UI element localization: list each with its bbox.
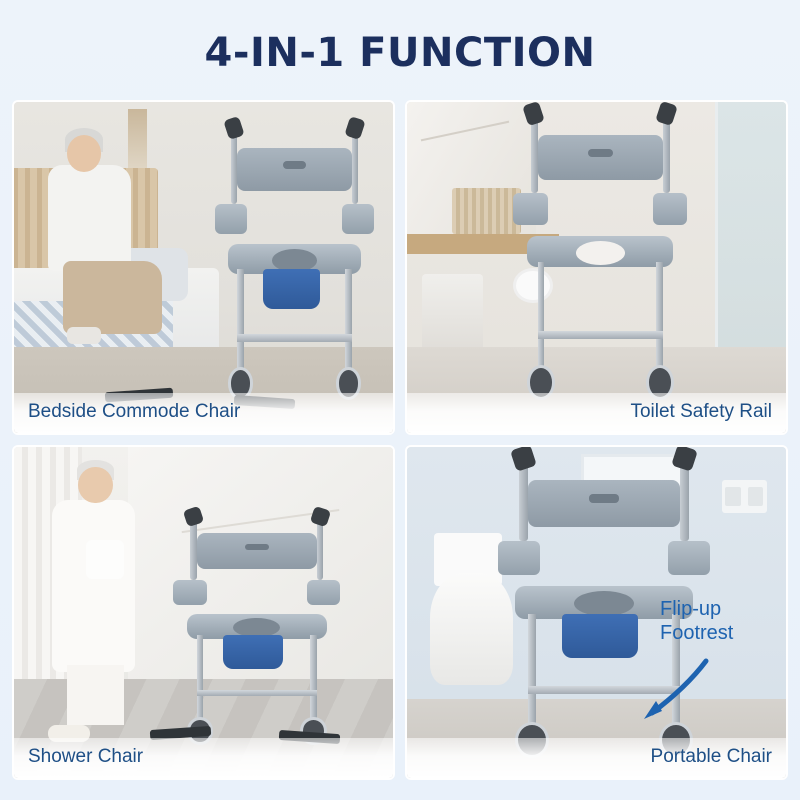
chair-push-post-right — [352, 128, 358, 203]
chair-push-post-right — [663, 114, 670, 193]
scene-bedroom — [14, 102, 393, 433]
panel-toilet-safety-rail[interactable]: Toilet Safety Rail — [405, 100, 788, 435]
backrest-handle-slot — [589, 494, 620, 503]
scene-bathroom-toilet — [407, 102, 786, 433]
rolled-towel — [86, 540, 124, 580]
person-head — [67, 135, 101, 171]
chair-backrest — [528, 480, 681, 527]
feature-grid: Bedside Commode Chair — [12, 100, 788, 780]
wall-outlet — [722, 480, 767, 513]
chair-frame-left — [197, 635, 204, 720]
panel-bedside-commode-chair[interactable]: Bedside Commode Chair — [12, 100, 395, 435]
chair-frame-right — [656, 262, 663, 368]
chair-backrest — [197, 533, 317, 569]
person-body — [48, 165, 131, 271]
backrest-handle-slot — [245, 544, 269, 550]
scene-shower-room — [14, 447, 393, 778]
person-body — [52, 500, 135, 672]
commode-chair — [215, 148, 374, 400]
commode-chair — [513, 135, 687, 400]
chair-armrest-right — [307, 580, 340, 605]
chair-armrest-left — [498, 541, 540, 574]
backrest-handle-slot — [588, 149, 613, 157]
chair-frame-right — [310, 635, 317, 720]
chair-armrest-left — [513, 193, 548, 225]
backrest-handle-slot — [283, 161, 306, 169]
commode-bucket — [223, 635, 283, 669]
chair-frame-left — [538, 262, 545, 368]
chair-armrest-right — [668, 541, 710, 574]
panel-shower-chair[interactable]: Shower Chair — [12, 445, 395, 780]
person-legs — [63, 261, 162, 334]
chair-frame-left — [237, 269, 243, 370]
panel-caption: Bedside Commode Chair — [14, 393, 393, 433]
chair-armrest-right — [342, 204, 374, 234]
chair-seat-opening — [233, 618, 280, 637]
chair-crossbar — [237, 334, 352, 342]
annotation-arrow-icon — [636, 655, 710, 725]
panel-caption: Shower Chair — [14, 738, 393, 778]
chair-armrest-left — [215, 204, 247, 234]
commode-bucket — [263, 269, 320, 309]
panel-caption: Toilet Safety Rail — [407, 393, 786, 433]
annotation-line-2: Footrest — [660, 621, 780, 645]
chair-frame-right — [345, 269, 351, 370]
chair-backrest — [237, 148, 352, 191]
product-feature-image: 4-IN-1 FUNCTION — [0, 0, 800, 800]
annotation-flip-up-footrest: Flip-up Footrest — [660, 597, 780, 645]
shower-chair — [173, 533, 340, 745]
panel-portable-chair[interactable]: Flip-up Footrest Portable Chair — [405, 445, 788, 780]
chair-crossbar — [197, 690, 317, 696]
storage-basket — [452, 188, 520, 234]
chair-armrest-left — [173, 580, 206, 605]
commode-bucket — [562, 614, 638, 658]
page-title: 4-IN-1 FUNCTION — [0, 30, 800, 76]
person-legs — [67, 665, 124, 725]
person-head — [78, 467, 112, 503]
chair-crossbar — [538, 331, 664, 339]
chair-armrest-right — [653, 193, 688, 225]
scene-portable-chair: Flip-up Footrest — [407, 447, 786, 778]
panel-caption: Portable Chair — [407, 738, 786, 778]
chair-backrest — [538, 135, 664, 180]
chair-seat-opening — [576, 241, 625, 265]
person-shoe — [67, 327, 101, 344]
chair-frame-left — [528, 614, 536, 725]
annotation-line-1: Flip-up — [660, 597, 780, 621]
chair-push-post-left — [531, 114, 538, 193]
